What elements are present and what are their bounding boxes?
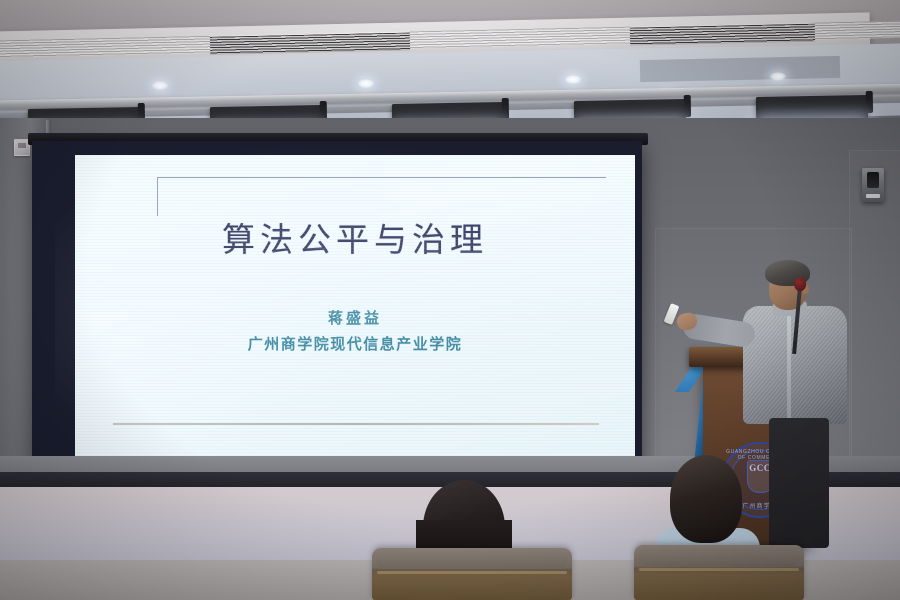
stage-light-yoke — [502, 98, 509, 120]
projection-screen: 算法公平与治理 蒋盛益 广州商学院现代信息产业学院 — [75, 155, 635, 465]
downlight-3 — [565, 75, 581, 84]
seat-trim — [377, 571, 567, 574]
hvac-vent-2 — [630, 23, 815, 46]
slide-horizontal-rule — [113, 423, 599, 425]
hvac-vent-1 — [210, 31, 410, 54]
stage-light-yoke — [684, 95, 691, 117]
audience-member-2-head — [670, 455, 742, 543]
seat-headrest — [638, 548, 800, 566]
seat-trim — [639, 568, 799, 571]
downlight-4 — [770, 72, 786, 81]
slide-title: 算法公平与治理 — [75, 213, 635, 261]
slide-subtitle-block: 蒋盛益 广州商学院现代信息产业学院 — [75, 307, 635, 354]
downlight-2 — [358, 79, 374, 88]
slide-corner-bracket — [157, 177, 606, 216]
presenter-affiliation: 广州商学院现代信息产业学院 — [75, 333, 635, 354]
lecture-hall-scene: 算法公平与治理 蒋盛益 广州商学院现代信息产业学院 GUANGZHOU COLL… — [0, 0, 900, 600]
presenter-legs — [769, 418, 829, 548]
auditorium-seat-1 — [372, 548, 572, 600]
auditorium-seat-2 — [634, 545, 804, 600]
speaker-grille — [866, 194, 880, 198]
presenter-name: 蒋盛益 — [75, 307, 635, 328]
wall-speaker-icon — [862, 168, 884, 202]
seat-headrest — [376, 551, 568, 569]
presenter-jacket-placket — [787, 308, 791, 420]
stage-light-yoke — [866, 91, 873, 113]
downlight-1 — [152, 81, 168, 90]
hvac-vent-left-light — [0, 35, 230, 57]
ceiling-recess-panel — [640, 56, 840, 82]
speaker-lens — [867, 172, 879, 188]
